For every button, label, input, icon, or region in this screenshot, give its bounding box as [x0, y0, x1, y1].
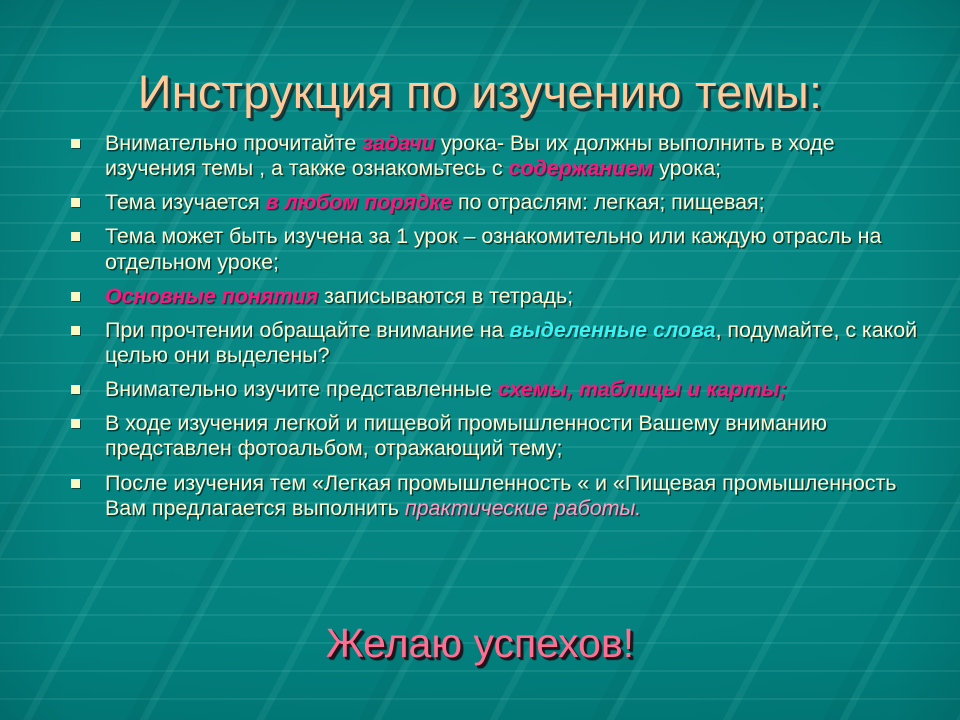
plain-text: Внимательно изучите представленные — [105, 377, 498, 401]
square-bullet-icon — [71, 198, 80, 207]
bullet-list: Внимательно прочитайте задачи урока- Вы … — [64, 131, 926, 530]
square-bullet-icon — [71, 479, 80, 488]
bullet-item: Внимательно изучите представленные схемы… — [64, 377, 926, 402]
plain-text: Тема может быть изучена за 1 урок – озна… — [105, 224, 881, 273]
plain-text: по отраслям: легкая; пищевая; — [452, 190, 765, 214]
emphasized-text-magenta: Основные понятия — [105, 284, 318, 308]
bullet-item: В ходе изучения легкой и пищевой промышл… — [64, 411, 926, 461]
square-bullet-icon — [71, 139, 80, 148]
emphasized-text-magenta: схемы, таблицы и карты; — [498, 377, 787, 401]
plain-text: Внимательно прочитайте — [105, 131, 362, 155]
square-bullet-icon — [71, 326, 80, 335]
bullet-item: Тема может быть изучена за 1 урок – озна… — [64, 224, 926, 274]
bullet-item: Тема изучается в любом порядке по отрасл… — [64, 190, 926, 215]
bullet-text: После изучения тем «Легкая промышленност… — [105, 471, 926, 521]
bullet-text: Внимательно изучите представленные схемы… — [105, 377, 926, 402]
bullet-text: Тема изучается в любом порядке по отрасл… — [105, 190, 926, 215]
square-bullet-icon — [71, 419, 80, 428]
plain-text: Тема изучается — [105, 190, 266, 214]
square-bullet-icon — [71, 292, 80, 301]
plain-text: В ходе изучения легкой и пищевой промышл… — [105, 411, 827, 460]
emphasized-text-magenta: задачи — [362, 131, 435, 155]
presentation-slide: Инструкция по изучению темы: Внимательно… — [0, 0, 960, 720]
plain-text: При прочтении обращайте внимание на — [105, 318, 509, 342]
bullet-text: В ходе изучения легкой и пищевой промышл… — [105, 411, 926, 461]
bullet-item: Внимательно прочитайте задачи урока- Вы … — [64, 131, 926, 181]
bullet-text: При прочтении обращайте внимание на выде… — [105, 318, 926, 368]
bullet-text: Тема может быть изучена за 1 урок – озна… — [105, 224, 926, 274]
bullet-item: После изучения тем «Легкая промышленност… — [64, 471, 926, 521]
bullet-item: При прочтении обращайте внимание на выде… — [64, 318, 926, 368]
emphasized-text-pink: практические работы. — [405, 496, 641, 520]
bullet-text: Основные понятия записываются в тетрадь; — [105, 284, 926, 309]
closing-message: Желаю успехов! — [0, 622, 960, 665]
square-bullet-icon — [71, 385, 80, 394]
emphasized-text-magenta: содержанием — [509, 156, 654, 180]
slide-title: Инструкция по изучению темы: — [0, 67, 960, 117]
plain-text: урока; — [653, 156, 721, 180]
bullet-item: Основные понятия записываются в тетрадь; — [64, 284, 926, 309]
plain-text: записываются в тетрадь; — [318, 284, 573, 308]
emphasized-text-magenta: в любом порядке — [266, 190, 452, 214]
slide-content: Инструкция по изучению темы: Внимательно… — [0, 0, 960, 720]
square-bullet-icon — [71, 232, 80, 241]
emphasized-text-cyan: выделенные слова — [509, 318, 715, 342]
bullet-text: Внимательно прочитайте задачи урока- Вы … — [105, 131, 926, 181]
